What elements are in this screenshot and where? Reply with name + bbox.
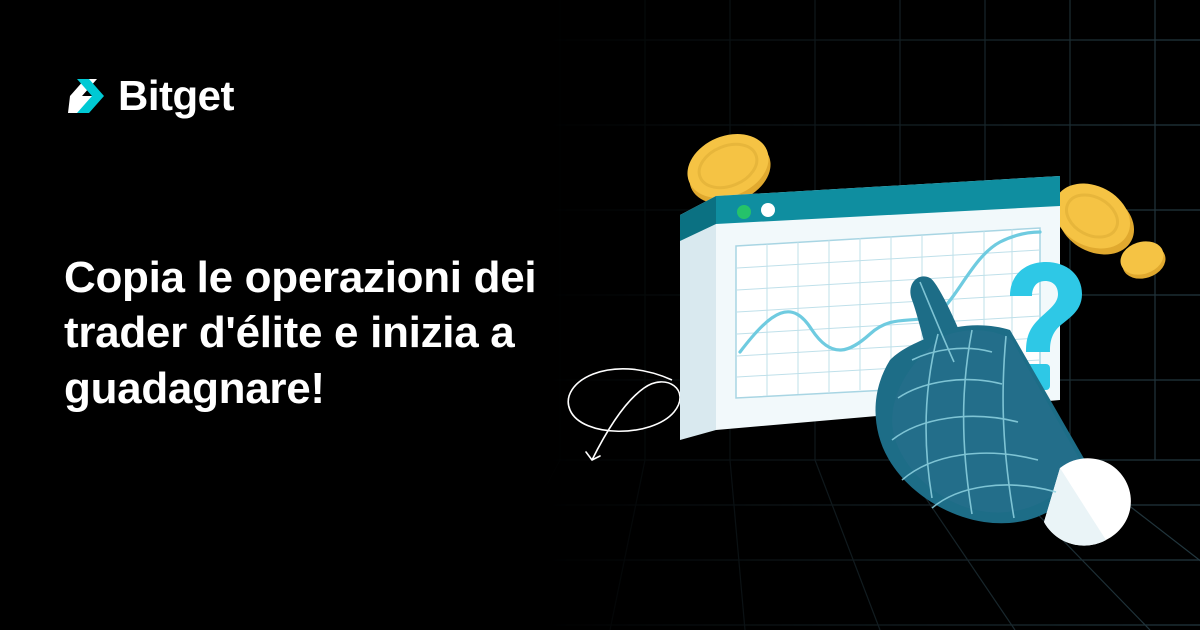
page-title: Copia le operazioni dei trader d'élite e… [64, 250, 584, 416]
window-dot-white [761, 203, 775, 217]
bitget-logo-icon [66, 74, 106, 118]
brand-logo: Bitget [66, 74, 234, 118]
promo-banner: Bitget Copia le operazioni dei trader d'… [0, 0, 1200, 630]
brand-name: Bitget [118, 75, 234, 117]
window-dot-green [737, 205, 751, 219]
decorative-loop-line [568, 369, 680, 460]
copy-trading-illustration [540, 0, 1200, 630]
